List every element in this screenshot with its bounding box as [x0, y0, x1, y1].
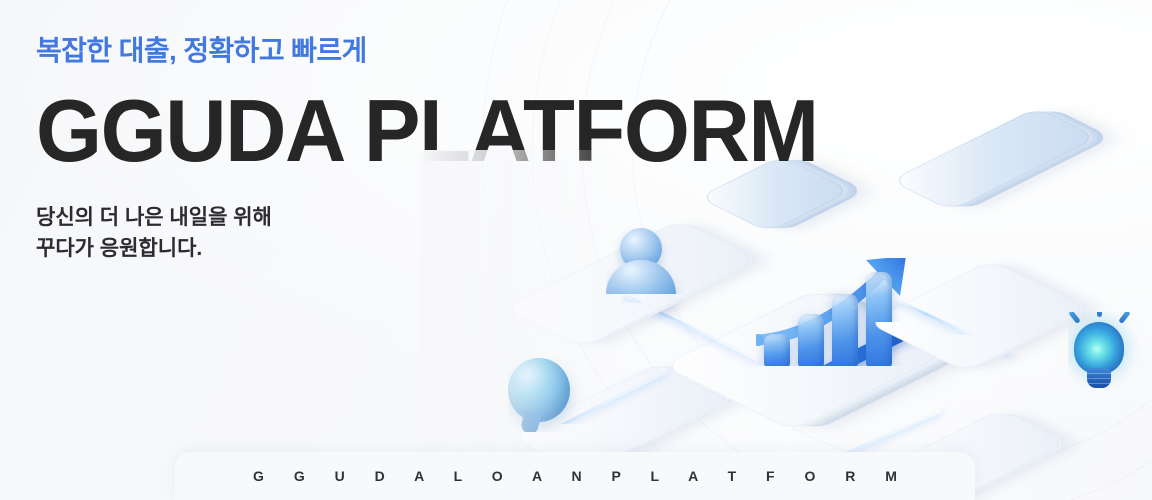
hero-subtitle: 당신의 더 나은 내일을 위해 꾸다가 응원합니다. — [36, 202, 596, 264]
hero-copy: 복잡한 대출, 정확하고 빠르게 GGUDA PLATFORM 당신의 더 나은… — [36, 34, 596, 264]
subtitle-1-tail: 을 위해 — [208, 206, 272, 229]
subtitle-2-tail: . — [196, 237, 202, 260]
subtitle-2-bold: 응원합니다 — [100, 237, 197, 260]
bottom-brand-strip: G G U D A L O A N P L A T F O R M — [175, 452, 975, 500]
lightbulb-icon — [1068, 312, 1130, 392]
speech-bubble-icon — [508, 358, 570, 422]
subtitle-1-plain: 당신의 — [36, 206, 100, 229]
hero-tagline: 복잡한 대출, 정확하고 빠르게 — [36, 34, 596, 68]
hero-subtitle-line-2: 꾸다가 응원합니다. — [36, 233, 596, 264]
hero-banner: 복잡한 대출, 정확하고 빠르게 GGUDA PLATFORM 당신의 더 나은… — [0, 0, 1152, 500]
iso-tile-glass-right — [890, 107, 1098, 211]
hero-subtitle-line-1: 당신의 더 나은 내일을 위해 — [36, 202, 596, 233]
chart-bar — [832, 294, 858, 368]
brand-strip-label: G G U D A L O A N P L A T F O R M — [240, 468, 910, 484]
chart-bar — [798, 314, 824, 368]
subtitle-1-bold: 더 나은 내일 — [100, 206, 208, 229]
page-title: GGUDA PLATFORM — [36, 90, 576, 173]
subtitle-2-plain: 꾸다가 — [36, 237, 100, 260]
